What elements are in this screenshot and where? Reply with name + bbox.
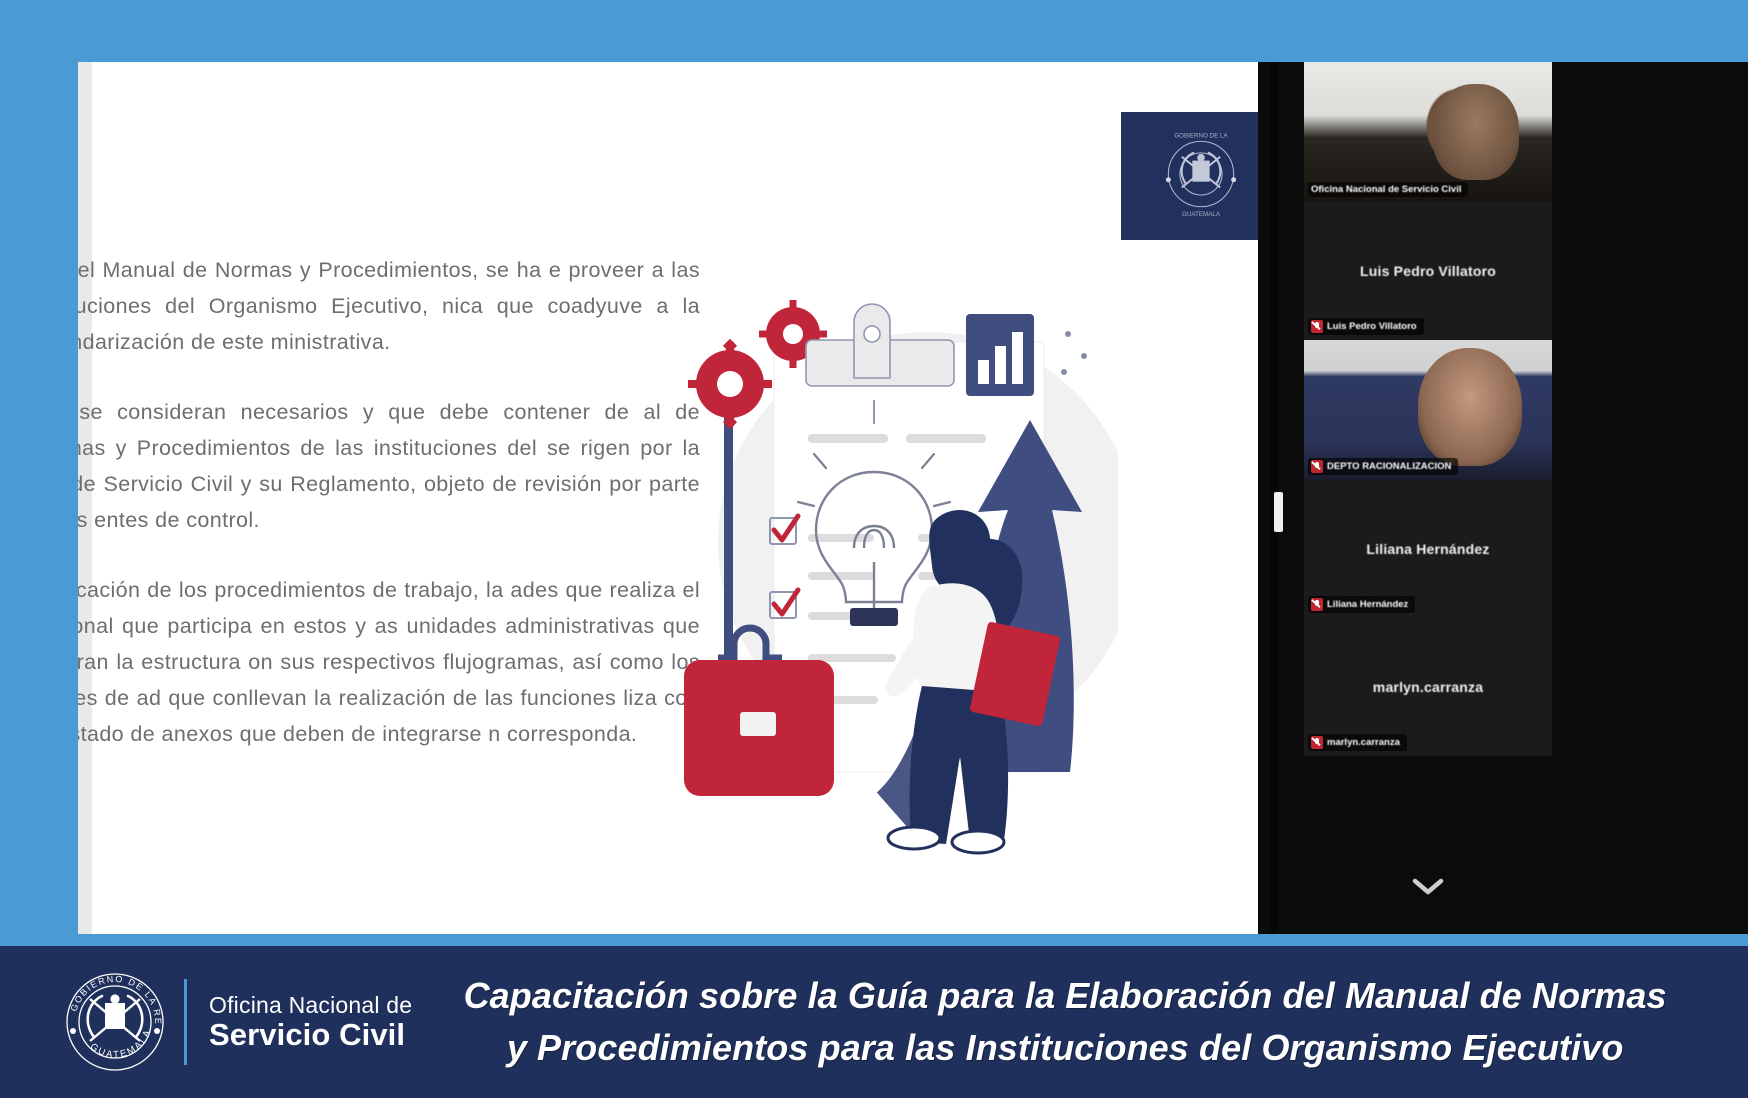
participant-name-tag: Liliana Hernández (1308, 596, 1415, 613)
participant-tile-strip[interactable]: Oficina Nacional de Servicio Civil Luis … (1304, 62, 1552, 934)
participant-name-tag: Luis Pedro Villatoro (1308, 318, 1424, 335)
shared-screen-slide[interactable]: GOBIERNO DE LA GUATEMALA ión del Manual … (78, 62, 1450, 934)
participant-name-tag: marlyn.carranza (1308, 734, 1407, 751)
microphone-muted-icon (1311, 736, 1323, 749)
microphone-muted-icon (1311, 460, 1323, 473)
slide-document-text: ión del Manual de Normas y Procedimiento… (78, 252, 718, 786)
organization-line1: Oficina Nacional de (209, 993, 412, 1018)
idea-checklist-growth-illustration (678, 272, 1118, 882)
brand-divider (184, 979, 187, 1065)
document-paragraph: ión del Manual de Normas y Procedimiento… (78, 252, 718, 360)
page-title: Capacitación sobre la Guía para la Elabo… (412, 970, 1748, 1074)
brand-lockup: GOBIERNO DE LA REPÚBLICA GUATEMALA Ofici… (62, 969, 412, 1075)
participant-name-label: marlyn.carranza (1327, 737, 1400, 748)
participant-display-name: marlyn.carranza (1373, 679, 1483, 695)
microphone-muted-icon (1311, 598, 1323, 611)
participant-name-label: Oficina Nacional de Servicio Civil (1311, 184, 1461, 195)
video-participants-panel[interactable]: Oficina Nacional de Servicio Civil Luis … (1258, 62, 1748, 934)
participant-tile[interactable]: Luis Pedro Villatoro Luis Pedro Villator… (1304, 202, 1552, 340)
bar-chart-icon (966, 314, 1034, 396)
svg-text:GOBIERNO DE LA: GOBIERNO DE LA (1174, 132, 1228, 139)
guatemala-coat-of-arms-icon: GOBIERNO DE LA GUATEMALA (1153, 126, 1249, 227)
banner-title-line1: Capacitación sobre la Guía para la Elabo… (464, 975, 1667, 1016)
participant-name-tag: Oficina Nacional de Servicio Civil (1308, 182, 1468, 197)
participant-display-name: Liliana Hernández (1366, 541, 1489, 557)
participant-tile[interactable]: Liliana Hernández Liliana Hernández (1304, 480, 1552, 618)
slide-emblem-block: GOBIERNO DE LA GUATEMALA (1121, 112, 1281, 240)
participant-video-feed (1304, 62, 1552, 202)
panel-resize-handle[interactable] (1274, 492, 1283, 532)
participant-name-tag: DEPTO RACIONALIZACION (1308, 458, 1458, 475)
organization-name: Oficina Nacional de Servicio Civil (209, 993, 412, 1051)
svg-text:GUATEMALA: GUATEMALA (1182, 211, 1221, 218)
document-paragraph: entificación de los procedimientos de tr… (78, 572, 718, 752)
participant-tile[interactable]: marlyn.carranza marlyn.carranza (1304, 618, 1552, 756)
participant-name-label: Luis Pedro Villatoro (1327, 321, 1417, 332)
screenshot-root: GOBIERNO DE LA GUATEMALA ión del Manual … (0, 0, 1748, 1098)
svg-text:GUATEMALA: GUATEMALA (88, 1027, 154, 1061)
bottom-banner: GOBIERNO DE LA REPÚBLICA GUATEMALA Ofici… (0, 946, 1748, 1098)
organization-line2: Servicio Civil (209, 1018, 412, 1051)
participant-tile[interactable]: Oficina Nacional de Servicio Civil (1304, 62, 1552, 202)
participant-name-label: Liliana Hernández (1327, 599, 1408, 610)
participant-name-label: DEPTO RACIONALIZACION (1327, 461, 1451, 472)
banner-title-line2: y Procedimientos para las Instituciones … (428, 1022, 1702, 1074)
chevron-down-icon[interactable] (1304, 876, 1552, 896)
microphone-muted-icon (1311, 320, 1323, 333)
participant-display-name: Luis Pedro Villatoro (1360, 263, 1496, 279)
participant-tile[interactable]: DEPTO RACIONALIZACION (1304, 340, 1552, 480)
document-paragraph: que se consideran necesarios y que debe … (78, 394, 718, 538)
guatemala-national-seal-icon: GOBIERNO DE LA REPÚBLICA GUATEMALA (62, 969, 168, 1075)
